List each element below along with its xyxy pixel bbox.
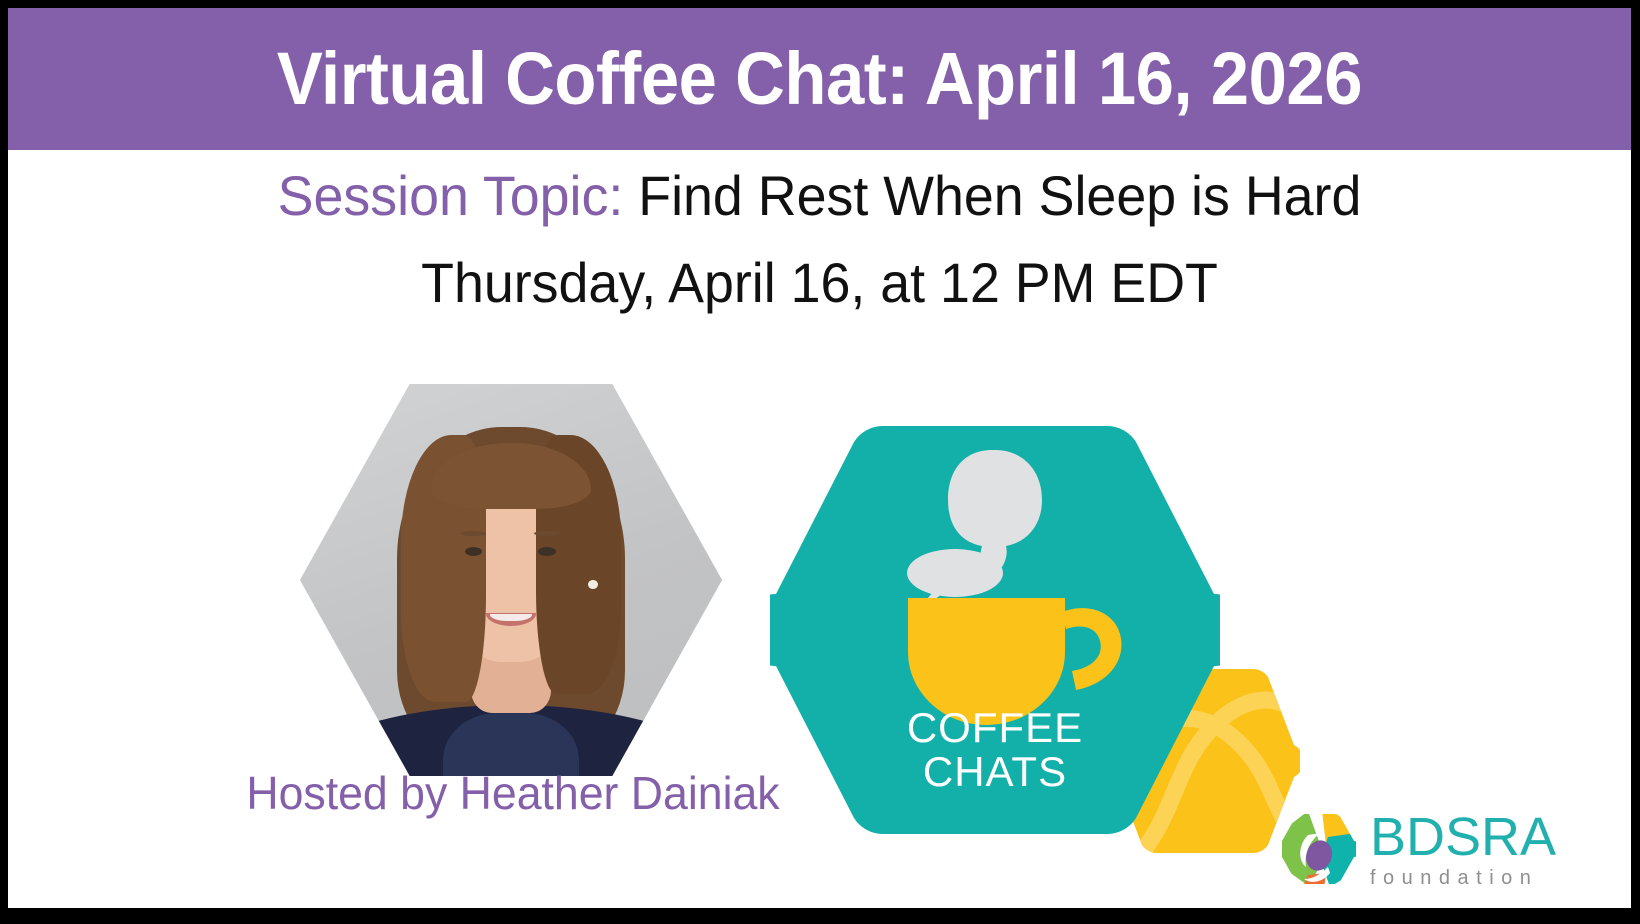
coffee-chats-hexagon-icon [770,420,1220,840]
bdsra-subtitle: foundation [1370,868,1556,888]
host-portrait-hexagon [300,384,722,776]
session-topic-value: Find Rest When Sleep is Hard [638,164,1361,227]
portrait-eye-right [538,547,556,556]
bdsra-wordmark: BDSRA foundation [1370,810,1556,888]
host-caption: Hosted by Heather Dainiak [198,766,829,820]
portrait-brow-right [534,531,559,536]
bdsra-name: BDSRA [1370,810,1556,864]
bdsra-foundation-logo: BDSRA foundation [1280,803,1610,895]
portrait-earring [588,580,597,589]
header-bar: Virtual Coffee Chat: April 16, 2026 [8,8,1631,150]
page-title: Virtual Coffee Chat: April 16, 2026 [277,42,1362,116]
session-topic-line: Session Topic: Find Rest When Sleep is H… [40,166,1598,226]
session-datetime: Thursday, April 16, at 12 PM EDT [40,253,1598,313]
host-portrait [300,384,722,776]
flyer-canvas: Virtual Coffee Chat: April 16, 2026 Sess… [8,8,1631,908]
portrait-brow-left [460,531,485,536]
coffee-chat-flyer: Virtual Coffee Chat: April 16, 2026 Sess… [0,0,1640,924]
session-topic-label: Session Topic: [278,164,624,227]
bdsra-hexagon-mark-icon [1280,811,1356,887]
